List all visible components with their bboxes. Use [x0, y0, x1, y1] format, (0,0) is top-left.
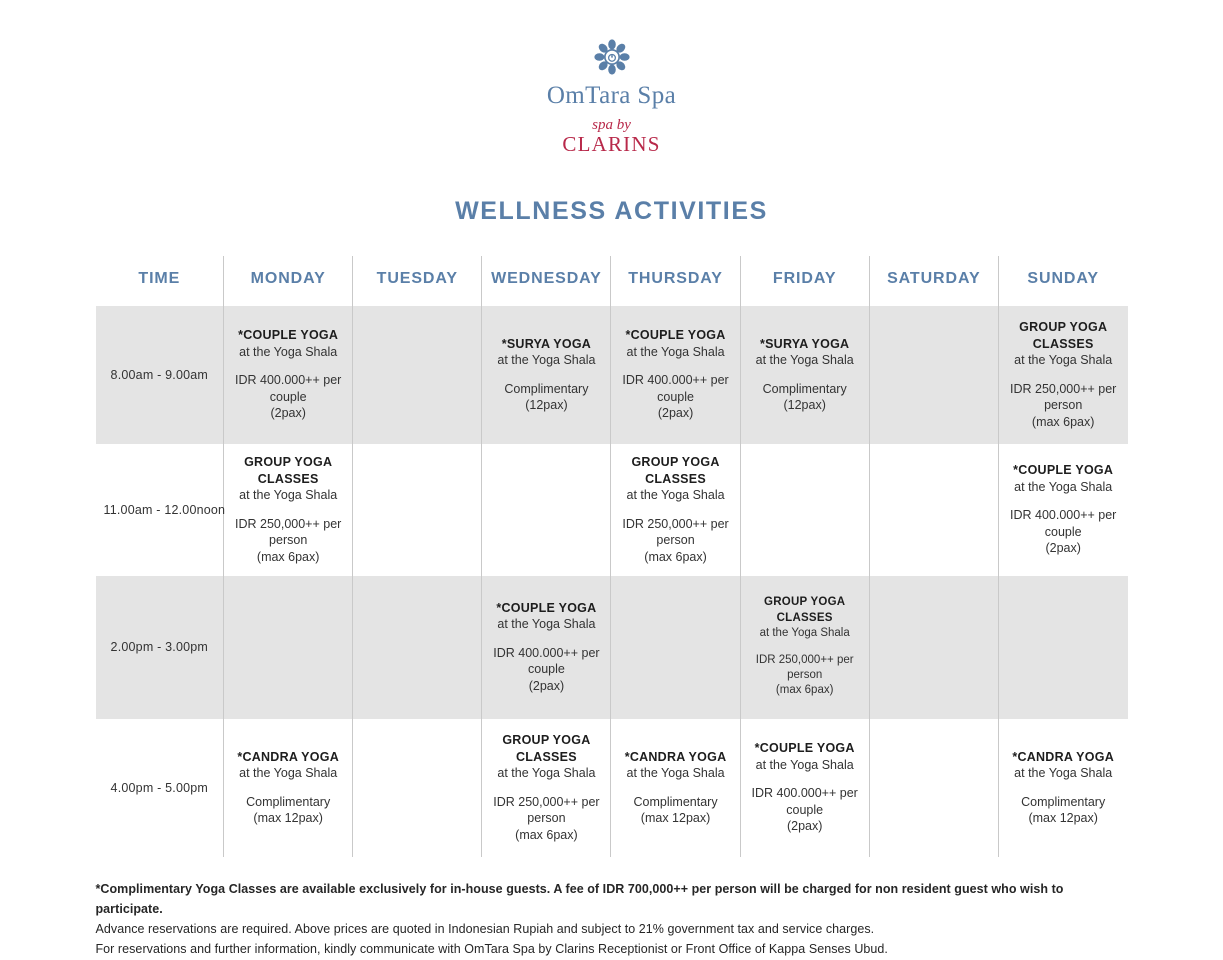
activity-price: IDR 400.000++ percouple(2pax) [619, 372, 731, 422]
activity-block: *CANDRA YOGAat the Yoga ShalaComplimenta… [232, 749, 344, 827]
activity-venue: at the Yoga Shala [1007, 352, 1120, 369]
activity-cell-sunday-empty [998, 576, 1127, 719]
activity-cell-wednesday: *SURYA YOGAat the Yoga ShalaComplimentar… [482, 306, 611, 444]
activity-price: IDR 400.000++ percouple(2pax) [232, 372, 344, 422]
footnote-line: For reservations and further information… [96, 939, 1128, 959]
activity-cell-sunday: *COUPLE YOGAat the Yoga ShalaIDR 400.000… [998, 444, 1127, 576]
schedule-row: 8.00am - 9.00am*COUPLE YOGAat the Yoga S… [96, 306, 1128, 444]
activity-block: *COUPLE YOGAat the Yoga ShalaIDR 400.000… [749, 740, 861, 835]
schedule-row: 11.00am - 12.00noonGROUP YOGACLASSESat t… [96, 444, 1128, 576]
lotus-mandala-icon [591, 36, 633, 78]
activity-block: GROUP YOGACLASSESat the Yoga ShalaIDR 25… [619, 454, 731, 565]
activity-cell-friday: *COUPLE YOGAat the Yoga ShalaIDR 400.000… [740, 719, 869, 857]
brand-sub-main: CLARINS [0, 134, 1223, 155]
activity-price: IDR 250,000++ perperson(max 6pax) [749, 653, 861, 699]
wellness-schedule-table: TIME MONDAY TUESDAY WEDNESDAY THURSDAY F… [96, 256, 1128, 857]
activity-title: *CANDRA YOGA [619, 749, 731, 766]
schedule-row: 2.00pm - 3.00pm*COUPLE YOGAat the Yoga S… [96, 576, 1128, 719]
activity-title: *CANDRA YOGA [232, 749, 344, 766]
activity-cell-thursday: *COUPLE YOGAat the Yoga ShalaIDR 400.000… [611, 306, 740, 444]
time-slot-cell: 8.00am - 9.00am [96, 306, 224, 444]
activity-venue: at the Yoga Shala [232, 344, 344, 361]
activity-cell-friday: GROUP YOGACLASSESat the Yoga ShalaIDR 25… [740, 576, 869, 719]
activity-block: *CANDRA YOGAat the Yoga ShalaComplimenta… [1007, 749, 1120, 827]
time-slot-cell: 2.00pm - 3.00pm [96, 576, 224, 719]
time-slot-cell: 4.00pm - 5.00pm [96, 719, 224, 857]
activity-title: GROUP YOGACLASSES [749, 595, 861, 625]
column-header-monday: MONDAY [224, 256, 353, 306]
column-header-sunday: SUNDAY [998, 256, 1127, 306]
schedule-row: 4.00pm - 5.00pm*CANDRA YOGAat the Yoga S… [96, 719, 1128, 857]
activity-cell-tuesday-empty [353, 576, 482, 719]
activity-price: IDR 400.000++ percouple(2pax) [490, 645, 602, 695]
activity-cell-wednesday: *COUPLE YOGAat the Yoga ShalaIDR 400.000… [482, 576, 611, 719]
activity-title: *COUPLE YOGA [749, 740, 861, 757]
activity-block: *SURYA YOGAat the Yoga ShalaComplimentar… [749, 336, 861, 414]
activity-price: IDR 250,000++ perperson(max 6pax) [619, 516, 731, 566]
activity-cell-sunday: *CANDRA YOGAat the Yoga ShalaComplimenta… [998, 719, 1127, 857]
activity-cell-saturday-empty [869, 576, 998, 719]
activity-venue: at the Yoga Shala [490, 352, 602, 369]
activity-price: Complimentary(max 12pax) [619, 794, 731, 827]
activity-venue: at the Yoga Shala [1007, 765, 1120, 782]
activity-title: *COUPLE YOGA [490, 600, 602, 617]
brand-header: OmTara Spa spa by CLARINS [0, 0, 1223, 155]
activity-price: Complimentary(max 12pax) [1007, 794, 1120, 827]
activity-block: *CANDRA YOGAat the Yoga ShalaComplimenta… [619, 749, 731, 827]
column-header-thursday: THURSDAY [611, 256, 740, 306]
activity-block: *COUPLE YOGAat the Yoga ShalaIDR 400.000… [619, 327, 731, 422]
activity-cell-sunday: GROUP YOGACLASSESat the Yoga ShalaIDR 25… [998, 306, 1127, 444]
activity-block: GROUP YOGACLASSESat the Yoga ShalaIDR 25… [1007, 319, 1120, 430]
activity-venue: at the Yoga Shala [232, 765, 344, 782]
activity-cell-saturday-empty [869, 306, 998, 444]
activity-title: GROUP YOGACLASSES [490, 732, 602, 765]
column-header-wednesday: WEDNESDAY [482, 256, 611, 306]
activity-block: *COUPLE YOGAat the Yoga ShalaIDR 400.000… [1007, 462, 1120, 557]
activity-title: GROUP YOGACLASSES [232, 454, 344, 487]
activity-title: *COUPLE YOGA [1007, 462, 1120, 479]
activity-price: Complimentary(max 12pax) [232, 794, 344, 827]
activity-title: GROUP YOGACLASSES [619, 454, 731, 487]
activity-cell-tuesday-empty [353, 444, 482, 576]
schedule-table-container: TIME MONDAY TUESDAY WEDNESDAY THURSDAY F… [96, 256, 1128, 857]
column-header-time: TIME [96, 256, 224, 306]
activity-price: Complimentary(12pax) [490, 381, 602, 414]
activity-cell-wednesday-empty [482, 444, 611, 576]
activity-cell-monday: *COUPLE YOGAat the Yoga ShalaIDR 400.000… [224, 306, 353, 444]
activity-cell-monday: *CANDRA YOGAat the Yoga ShalaComplimenta… [224, 719, 353, 857]
activity-block: *SURYA YOGAat the Yoga ShalaComplimentar… [490, 336, 602, 414]
activity-cell-tuesday-empty [353, 306, 482, 444]
time-slot-cell: 11.00am - 12.00noon [96, 444, 224, 576]
activity-venue: at the Yoga Shala [619, 344, 731, 361]
activity-block: GROUP YOGACLASSESat the Yoga ShalaIDR 25… [490, 732, 602, 843]
activity-price: IDR 250,000++ perperson(max 6pax) [490, 794, 602, 844]
activity-title: *CANDRA YOGA [1007, 749, 1120, 766]
activity-price: IDR 400.000++ percouple(2pax) [749, 785, 861, 835]
activity-title: *SURYA YOGA [749, 336, 861, 353]
brand-sub-script: spa by [0, 118, 1223, 133]
activity-price: IDR 250,000++ perperson(max 6pax) [232, 516, 344, 566]
activity-title: *COUPLE YOGA [619, 327, 731, 344]
activity-block: *COUPLE YOGAat the Yoga ShalaIDR 400.000… [232, 327, 344, 422]
activity-venue: at the Yoga Shala [490, 765, 602, 782]
activity-venue: at the Yoga Shala [1007, 479, 1120, 496]
activity-venue: at the Yoga Shala [749, 626, 861, 641]
activity-cell-thursday: GROUP YOGACLASSESat the Yoga ShalaIDR 25… [611, 444, 740, 576]
activity-cell-thursday: *CANDRA YOGAat the Yoga ShalaComplimenta… [611, 719, 740, 857]
column-header-tuesday: TUESDAY [353, 256, 482, 306]
footnote-line: *Complimentary Yoga Classes are availabl… [96, 879, 1128, 920]
activity-block: GROUP YOGACLASSESat the Yoga ShalaIDR 25… [232, 454, 344, 565]
activity-venue: at the Yoga Shala [749, 757, 861, 774]
wellness-activities-page: OmTara Spa spa by CLARINS WELLNESS ACTIV… [0, 0, 1223, 861]
activity-cell-monday-empty [224, 576, 353, 719]
activity-price: IDR 400.000++ percouple(2pax) [1007, 507, 1120, 557]
activity-title: *COUPLE YOGA [232, 327, 344, 344]
activity-cell-thursday-empty [611, 576, 740, 719]
activity-block: *COUPLE YOGAat the Yoga ShalaIDR 400.000… [490, 600, 602, 695]
activity-cell-friday-empty [740, 444, 869, 576]
column-header-friday: FRIDAY [740, 256, 869, 306]
activity-venue: at the Yoga Shala [232, 487, 344, 504]
activity-cell-tuesday-empty [353, 719, 482, 857]
activity-venue: at the Yoga Shala [749, 352, 861, 369]
activity-cell-friday: *SURYA YOGAat the Yoga ShalaComplimentar… [740, 306, 869, 444]
page-title: WELLNESS ACTIVITIES [0, 197, 1223, 226]
activity-cell-monday: GROUP YOGACLASSESat the Yoga ShalaIDR 25… [224, 444, 353, 576]
activity-title: *SURYA YOGA [490, 336, 602, 353]
activity-price: IDR 250,000++ perperson(max 6pax) [1007, 381, 1120, 431]
activity-cell-saturday-empty [869, 444, 998, 576]
activity-venue: at the Yoga Shala [619, 487, 731, 504]
activity-block: GROUP YOGACLASSESat the Yoga ShalaIDR 25… [749, 595, 861, 698]
table-header-row: TIME MONDAY TUESDAY WEDNESDAY THURSDAY F… [96, 256, 1128, 306]
footnote-line: Advance reservations are required. Above… [96, 919, 1128, 939]
activity-cell-saturday-empty [869, 719, 998, 857]
activity-venue: at the Yoga Shala [619, 765, 731, 782]
footnotes: *Complimentary Yoga Classes are availabl… [96, 879, 1128, 960]
brand-name: OmTara Spa [0, 82, 1223, 110]
activity-title: GROUP YOGACLASSES [1007, 319, 1120, 352]
schedule-body: 8.00am - 9.00am*COUPLE YOGAat the Yoga S… [96, 306, 1128, 857]
column-header-saturday: SATURDAY [869, 256, 998, 306]
activity-price: Complimentary(12pax) [749, 381, 861, 414]
activity-cell-wednesday: GROUP YOGACLASSESat the Yoga ShalaIDR 25… [482, 719, 611, 857]
activity-venue: at the Yoga Shala [490, 616, 602, 633]
